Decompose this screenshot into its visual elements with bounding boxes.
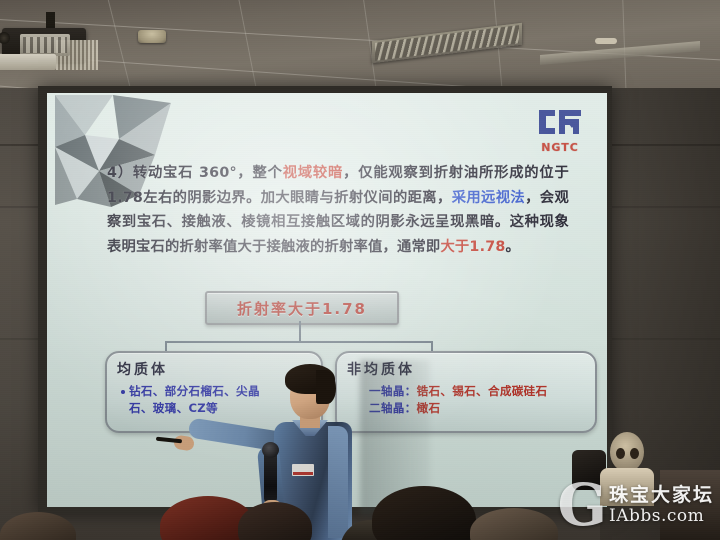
watermark-chinese-text: 珠宝大家坛 xyxy=(609,484,714,506)
forum-watermark: G 珠宝大家坛 IAbbs.com xyxy=(557,476,714,534)
microphone-head-icon xyxy=(262,442,279,458)
ceiling-lamp-strip xyxy=(540,41,700,65)
ceiling-projector xyxy=(0,10,106,72)
callout-text: 折射率大于1.78 xyxy=(237,298,367,319)
slide-line3-a: 的距离， xyxy=(393,190,452,206)
slide-line1-a: 4）转动宝石 360°，整个 xyxy=(107,165,283,181)
slide-line1-highlight: 视域较暗 xyxy=(283,165,343,181)
presenter-hair-side xyxy=(316,370,336,404)
presenter-name-badge xyxy=(292,464,314,476)
refractive-index-callout: 折射率大于1.78 xyxy=(205,291,399,325)
photo-scene: NGTC 4）转动宝石 360°，整个视域较暗，仅能观察到折射油所形成的位于1.… xyxy=(0,0,720,540)
bullet-icon xyxy=(121,390,125,394)
side-attendee-eye-right xyxy=(630,448,639,459)
side-attendee-eye-left xyxy=(616,448,625,459)
presenter-shirt-stripe xyxy=(328,426,348,538)
slide-line3-highlight: 采用远视法 xyxy=(452,190,525,206)
ceiling-light-dot xyxy=(595,38,617,44)
slide-line5-highlight: 大于1.78 xyxy=(440,239,505,255)
watermark-logo-letter: G xyxy=(557,479,607,531)
callout-connector-vertical xyxy=(299,321,301,343)
slide-body-text: 4）转动宝石 360°，整个视域较暗，仅能观察到折射油所形成的位于1.78左右的… xyxy=(107,161,569,259)
projector-panel xyxy=(20,34,70,56)
ngtc-mark-icon xyxy=(535,107,585,137)
smoke-detector xyxy=(138,30,166,43)
slide-line5-a: 率值大于接触液的折射率值，通常即 xyxy=(208,239,440,255)
projector-base xyxy=(0,54,56,70)
watermark-english-text: IAbbs.com xyxy=(609,506,714,526)
ngtc-logo-text: NGTC xyxy=(529,142,591,154)
uniaxial-value: 锆石、锡石、合成碳硅石 xyxy=(417,384,548,398)
callout-connector-horizontal xyxy=(165,341,433,343)
slide-line1-b: ，仅能观察到折射油 xyxy=(343,165,479,181)
slide-line5-b: 。 xyxy=(506,239,521,255)
ceiling xyxy=(0,0,720,92)
ngtc-logo: NGTC xyxy=(529,107,591,157)
